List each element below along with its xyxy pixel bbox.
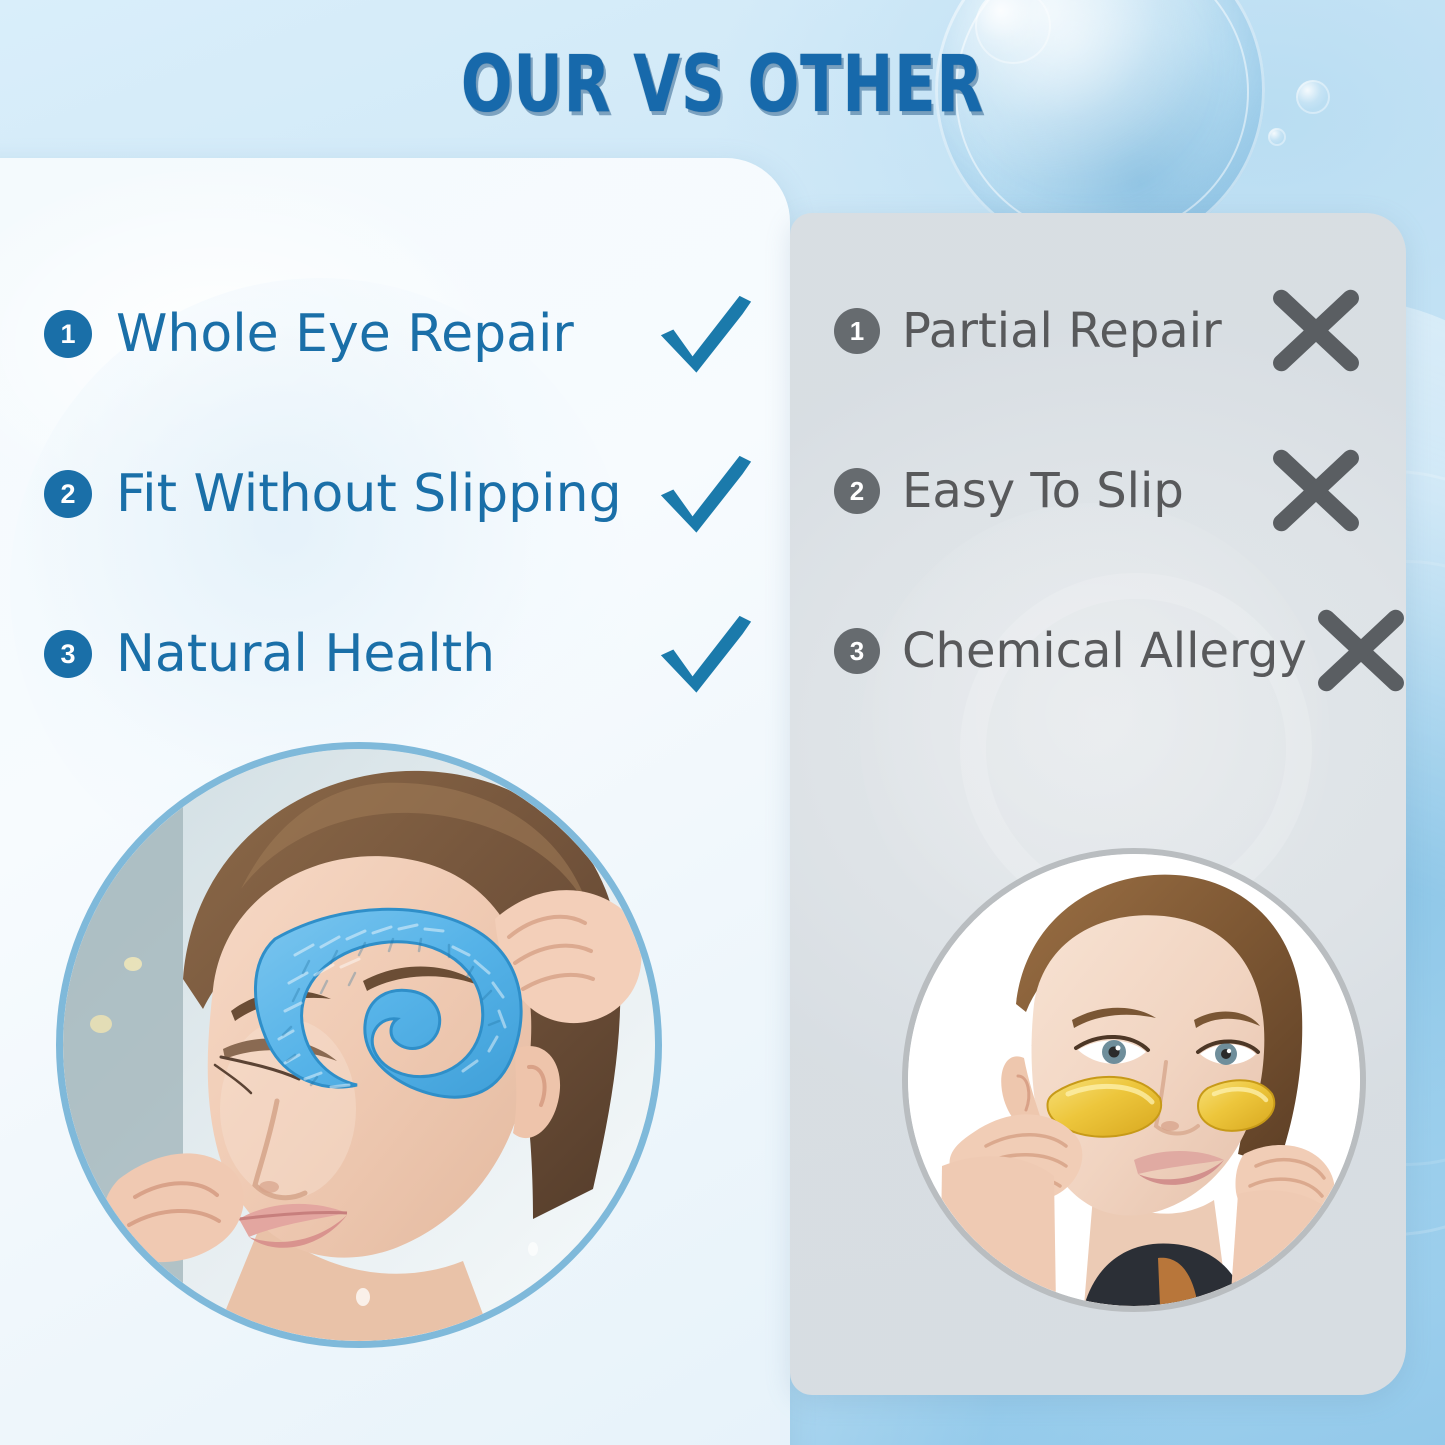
list-item[interactable]: 1 Whole Eye Repair	[44, 286, 754, 382]
cross-icon	[1313, 610, 1409, 692]
list-item[interactable]: 3 Chemical Allergy	[834, 603, 1364, 699]
water-bubble-icon	[1268, 128, 1286, 146]
other-feature-list: 1 Partial Repair 2 Easy To Slip	[834, 283, 1364, 763]
our-feature-list: 1 Whole Eye Repair 2 Fit Without Slippin…	[44, 286, 754, 766]
water-bubble-icon	[1296, 80, 1330, 114]
item-number-badge: 2	[834, 468, 880, 514]
check-icon	[658, 293, 754, 375]
cross-icon	[1268, 450, 1364, 532]
check-icon	[658, 453, 754, 535]
list-item[interactable]: 1 Partial Repair	[834, 283, 1364, 379]
page-title: OUR VS OTHER	[159, 46, 1286, 124]
cross-icon	[1268, 290, 1364, 372]
item-label: Partial Repair	[880, 306, 1262, 356]
item-number-badge: 3	[834, 628, 880, 674]
item-label: Natural Health	[92, 627, 648, 682]
list-item[interactable]: 3 Natural Health	[44, 606, 754, 702]
item-number-badge: 3	[44, 630, 92, 678]
our-product-photo	[56, 742, 662, 1348]
item-label: Fit Without Slipping	[92, 467, 648, 522]
item-number-badge: 2	[44, 470, 92, 518]
item-number-badge: 1	[44, 310, 92, 358]
list-item[interactable]: 2 Easy To Slip	[834, 443, 1364, 539]
item-label: Easy To Slip	[880, 466, 1262, 516]
item-label: Chemical Allergy	[880, 626, 1307, 676]
infographic-root: OUR VS OTHER 1 Whole Eye Repair 2 Fit Wi…	[0, 0, 1445, 1445]
other-product-photo	[902, 848, 1366, 1312]
check-icon	[658, 613, 754, 695]
list-item[interactable]: 2 Fit Without Slipping	[44, 446, 754, 542]
item-label: Whole Eye Repair	[92, 307, 648, 362]
item-number-badge: 1	[834, 308, 880, 354]
